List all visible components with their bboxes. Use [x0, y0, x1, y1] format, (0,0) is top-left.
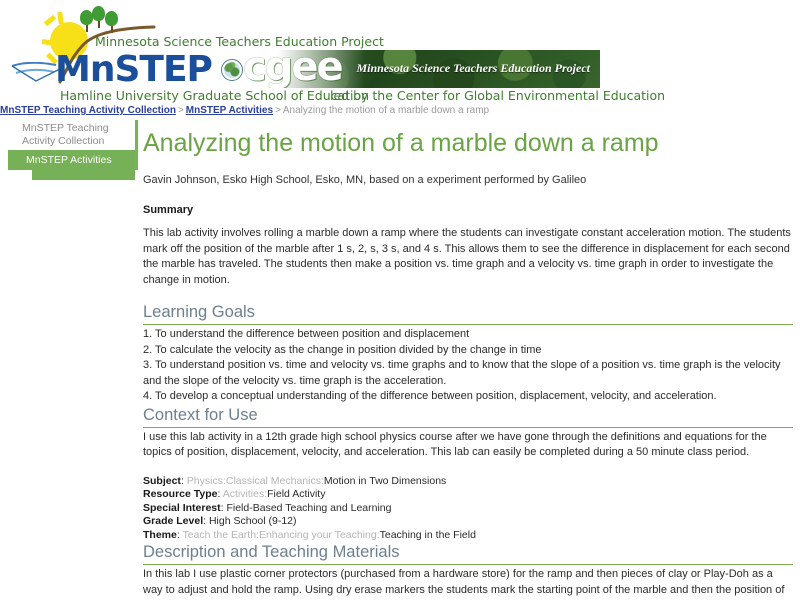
sidebar-item-mnstep-activities[interactable]: MnSTEP Activities [8, 150, 135, 170]
metadata-key: Subject [143, 475, 181, 487]
summary-text: This lab activity involves rolling a mar… [143, 226, 793, 288]
context-for-use-heading: Context for Use [143, 405, 793, 428]
breadcrumb-current: Analyzing the motion of a marble down a … [283, 105, 489, 116]
metadata-row-theme: Theme: Teach the Earth:Enhancing your Te… [143, 529, 793, 543]
site-header: Minnesota Science Teachers Education Pro… [0, 0, 800, 104]
metadata-path[interactable]: Physics:Classical Mechanics: [187, 475, 324, 487]
metadata-value[interactable]: High School (9-12) [209, 515, 297, 527]
byline: Gavin Johnson, Esko High School, Esko, M… [143, 174, 793, 186]
metadata-key: Resource Type [143, 488, 218, 500]
metadata-key: Special Interest [143, 502, 221, 514]
breadcrumb-link-activities[interactable]: MnSTEP Activities [186, 105, 273, 116]
logo-tagline-top: Minnesota Science Teachers Education Pro… [95, 34, 384, 49]
metadata-row-grade-level: Grade Level: High School (9-12) [143, 515, 793, 529]
list-item: 4. To develop a conceptual understanding… [143, 389, 793, 405]
list-item: 1. To understand the difference between … [143, 327, 793, 343]
page-title: Analyzing the motion of a marble down a … [143, 128, 793, 158]
sidebar-footer-bar [32, 170, 135, 180]
metadata-key: Theme [143, 529, 177, 541]
metadata-path[interactable]: Activities: [223, 488, 267, 500]
sidebar: MnSTEP Teaching Activity Collection MnST… [8, 120, 138, 180]
logo-tagline-bottom: Hamline University Graduate School of Ed… [60, 88, 369, 103]
metadata-row-special-interest: Special Interest: Field-Based Teaching a… [143, 502, 793, 516]
cgee-subtitle: led by the Center for Global Environment… [330, 88, 665, 103]
metadata-row-resource-type: Resource Type: Activities:Field Activity [143, 488, 793, 502]
learning-goals-heading: Learning Goals [143, 302, 793, 325]
metadata-value[interactable]: Field-Based Teaching and Learning [226, 502, 391, 514]
learning-goals-list: 1. To understand the difference between … [143, 327, 793, 405]
cgee-banner[interactable]: cgee Minnesota Science Teachers Educatio… [215, 50, 600, 88]
list-item: 2. To calculate the velocity as the chan… [143, 343, 793, 359]
metadata-path[interactable]: Teach the Earth:Enhancing your Teaching: [183, 529, 380, 541]
description-text: In this lab I use plastic corner protect… [143, 567, 793, 600]
breadcrumb-separator: > [176, 105, 186, 116]
summary-heading: Summary [143, 204, 793, 216]
metadata-row-subject: Subject: Physics:Classical Mechanics:Mot… [143, 475, 793, 489]
cgee-banner-text: Minnesota Science Teachers Education Pro… [356, 61, 590, 76]
metadata-value[interactable]: Field Activity [267, 488, 325, 500]
description-heading: Description and Teaching Materials [143, 542, 793, 565]
globe-icon [221, 59, 243, 81]
breadcrumb: MnSTEP Teaching Activity Collection>MnST… [0, 105, 800, 117]
sidebar-nav: MnSTEP Teaching Activity Collection MnST… [8, 120, 138, 170]
context-for-use-text: I use this lab activity in a 12th grade … [143, 430, 793, 461]
tree-icon [92, 6, 105, 28]
breadcrumb-link-collection[interactable]: MnSTEP Teaching Activity Collection [0, 105, 176, 116]
breadcrumb-separator: > [273, 105, 283, 116]
metadata-block: Subject: Physics:Classical Mechanics:Mot… [143, 475, 793, 543]
metadata-value[interactable]: Motion in Two Dimensions [324, 475, 446, 487]
main-content: Analyzing the motion of a marble down a … [143, 128, 793, 600]
sun-ray-icon [42, 39, 56, 46]
metadata-key: Grade Level [143, 515, 203, 527]
sidebar-item-teaching-activity-collection[interactable]: MnSTEP Teaching Activity Collection [8, 120, 135, 150]
page-root: Minnesota Science Teachers Education Pro… [0, 0, 800, 600]
logo-wordmark: MnSTEP [55, 52, 212, 88]
list-item: 3. To understand position vs. time and v… [143, 358, 793, 389]
cgee-wordmark: cgee [243, 50, 342, 87]
tree-icon [105, 11, 118, 33]
sun-ray-icon [44, 15, 56, 27]
metadata-value[interactable]: Teaching in the Field [380, 529, 476, 541]
